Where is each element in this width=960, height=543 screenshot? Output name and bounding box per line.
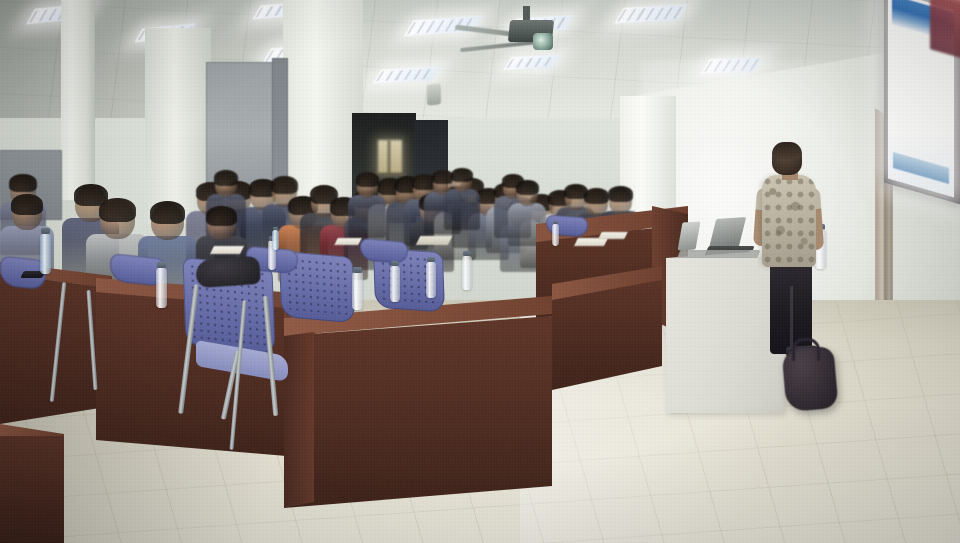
bottle-5 (390, 266, 400, 302)
desk-corner-face (0, 436, 64, 543)
bottle-6 (426, 262, 436, 298)
presenter-shirt-pattern (762, 175, 816, 267)
audience-person-hair (516, 180, 539, 195)
paper-1 (210, 246, 244, 254)
audience-person-hair (99, 198, 136, 222)
audience-person (348, 174, 386, 241)
presenter-hair (772, 142, 802, 159)
light-panel-6-cells (617, 6, 684, 21)
bottle-9 (552, 224, 559, 246)
desk-front-row-face (284, 316, 552, 516)
audience-person-hair (150, 201, 185, 224)
podium (666, 258, 784, 413)
audience-person-hair (11, 194, 43, 215)
bottle-4-cap (353, 267, 362, 273)
bottle-8 (272, 230, 279, 250)
light-panel-8-cells (506, 57, 557, 68)
audience-person-hair (9, 174, 37, 192)
bottle-6-cap (427, 257, 435, 262)
lecture-hall-photo: University lecture hall during a seminar… (0, 0, 960, 543)
structural-column-a (61, 0, 95, 200)
bottle-7-cap (463, 251, 471, 256)
speaker-icon-left (427, 83, 441, 105)
paper-2 (574, 238, 608, 246)
rear-window-mullion (388, 140, 390, 174)
audience-person-hair (214, 170, 238, 186)
audience-person-hair (271, 176, 298, 194)
bag-on-desk (195, 256, 261, 288)
light-panel-5-cells (376, 69, 438, 82)
notebook-1 (416, 236, 452, 245)
desk-front-row-left-end (284, 316, 314, 516)
bottle-5-cap (391, 261, 399, 266)
audience-person-hair (451, 168, 473, 182)
bottle-7 (462, 256, 472, 290)
paper-3 (598, 232, 627, 239)
paper-4 (334, 238, 361, 245)
bottle-1 (40, 234, 51, 274)
projector-lens-icon (533, 33, 553, 50)
backpack-strap (792, 338, 820, 361)
bottle-8-cap (273, 227, 278, 230)
bottle-4 (352, 272, 363, 310)
rear-window (378, 140, 402, 174)
acoustic-wall-panel-2 (272, 58, 288, 194)
slide-red-graphic (930, 0, 960, 59)
audience-person-hair (608, 186, 633, 202)
bottle-2-cap (157, 262, 166, 268)
bottle-9-cap (553, 221, 558, 224)
audience-person-hair (356, 172, 379, 187)
bottle-2 (156, 268, 167, 308)
audience-person-hair (206, 206, 237, 226)
audience-person (444, 170, 480, 233)
bottle-1-cap (41, 228, 50, 234)
